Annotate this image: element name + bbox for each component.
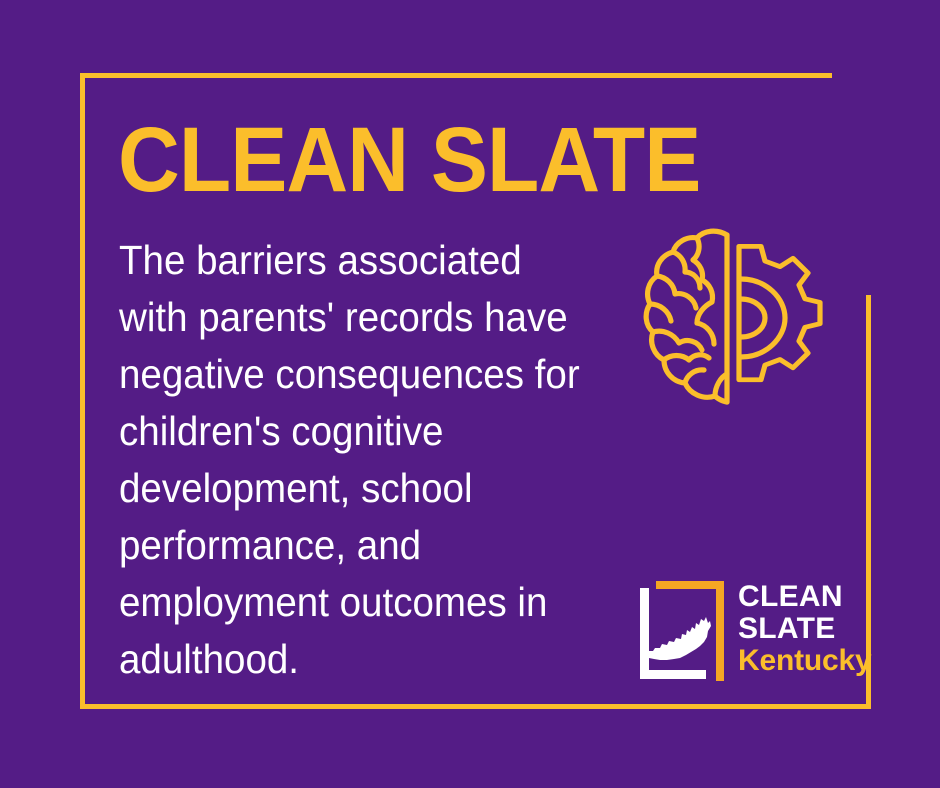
logo-line-kentucky: Kentucky — [738, 645, 850, 677]
kentucky-silhouette — [646, 617, 711, 660]
page-title: CLEAN SLATE — [118, 114, 700, 206]
frame-left-edge — [80, 73, 85, 709]
logo-line-clean: CLEAN — [738, 581, 850, 613]
bracket-gold-right — [716, 581, 724, 681]
bracket-white-bottom — [640, 670, 706, 679]
logo-wordmark: CLEAN SLATE Kentucky — [738, 581, 850, 677]
bracket-white-left — [640, 588, 649, 679]
frame-top-edge — [80, 73, 832, 78]
frame-bottom-edge — [80, 704, 871, 709]
infographic-canvas: CLEAN SLATE The barriers associated with… — [0, 0, 940, 788]
brain-gear-icon — [641, 226, 823, 406]
logo-bracket-mark — [634, 579, 732, 684]
clean-slate-kentucky-logo: CLEAN SLATE Kentucky — [634, 579, 849, 684]
logo-line-slate: SLATE — [738, 613, 850, 645]
body-paragraph: The barriers associated with parents' re… — [119, 232, 589, 688]
bracket-gold-top — [656, 581, 724, 589]
